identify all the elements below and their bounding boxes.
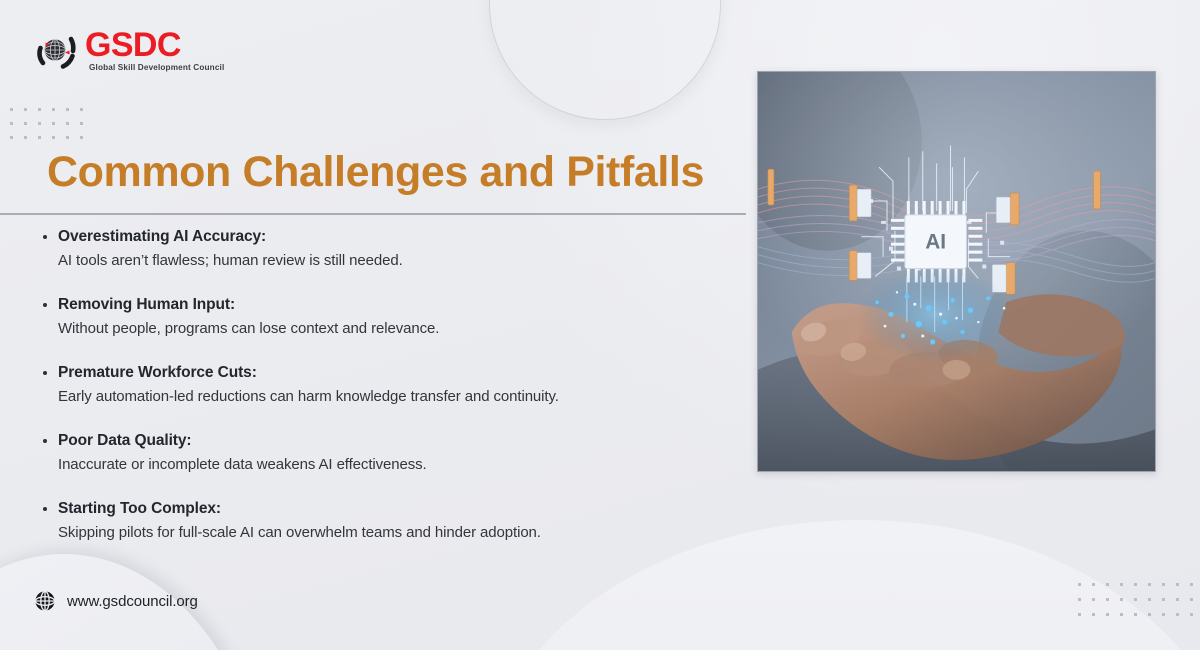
page-title: Common Challenges and Pitfalls — [47, 146, 704, 198]
list-item-description: Without people, programs can lose contex… — [58, 317, 740, 340]
chip-label: AI — [925, 231, 946, 254]
list-item-heading: Premature Workforce Cuts: — [58, 362, 740, 383]
bullet-point-icon — [43, 235, 47, 239]
bullet-point-icon — [43, 439, 47, 443]
decorative-dot-grid-bottom-right — [1078, 583, 1200, 628]
decorative-circle-outline — [489, 0, 721, 120]
decorative-dot-grid-top-left — [10, 108, 94, 150]
slide-canvas: GSDC Global Skill Development Council Co… — [0, 0, 1200, 650]
brand-logo: GSDC Global Skill Development Council — [33, 25, 233, 81]
list-item-description: Early automation-led reductions can harm… — [58, 385, 740, 408]
challenges-list: Overestimating AI Accuracy: AI tools are… — [40, 226, 740, 544]
title-divider — [0, 213, 746, 215]
list-item-heading: Poor Data Quality: — [58, 430, 740, 451]
list-item-heading: Starting Too Complex: — [58, 498, 740, 519]
logo-tagline: Global Skill Development Council — [89, 63, 224, 72]
hero-image-ai-chip-in-hand: AI — [757, 71, 1156, 472]
list-item: Poor Data Quality: Inaccurate or incompl… — [40, 430, 740, 476]
globe-icon — [34, 590, 56, 612]
list-item: Removing Human Input: Without people, pr… — [40, 294, 740, 340]
bullet-point-icon — [43, 371, 47, 375]
bullet-point-icon — [43, 507, 47, 511]
logo-wordmark: GSDC — [85, 25, 181, 65]
list-item-description: Skipping pilots for full-scale AI can ov… — [58, 521, 740, 544]
list-item: Starting Too Complex: Skipping pilots fo… — [40, 498, 740, 544]
list-item: Premature Workforce Cuts: Early automati… — [40, 362, 740, 408]
list-item-heading: Overestimating AI Accuracy: — [58, 226, 740, 247]
list-item: Overestimating AI Accuracy: AI tools are… — [40, 226, 740, 272]
globe-arc-logo-icon — [33, 29, 81, 73]
list-item-description: AI tools aren’t flawless; human review i… — [58, 249, 740, 272]
bullet-point-icon — [43, 303, 47, 307]
footer: www.gsdcouncil.org — [34, 590, 198, 612]
list-item-heading: Removing Human Input: — [58, 294, 740, 315]
list-item-description: Inaccurate or incomplete data weakens AI… — [58, 453, 740, 476]
website-url[interactable]: www.gsdcouncil.org — [67, 593, 198, 610]
